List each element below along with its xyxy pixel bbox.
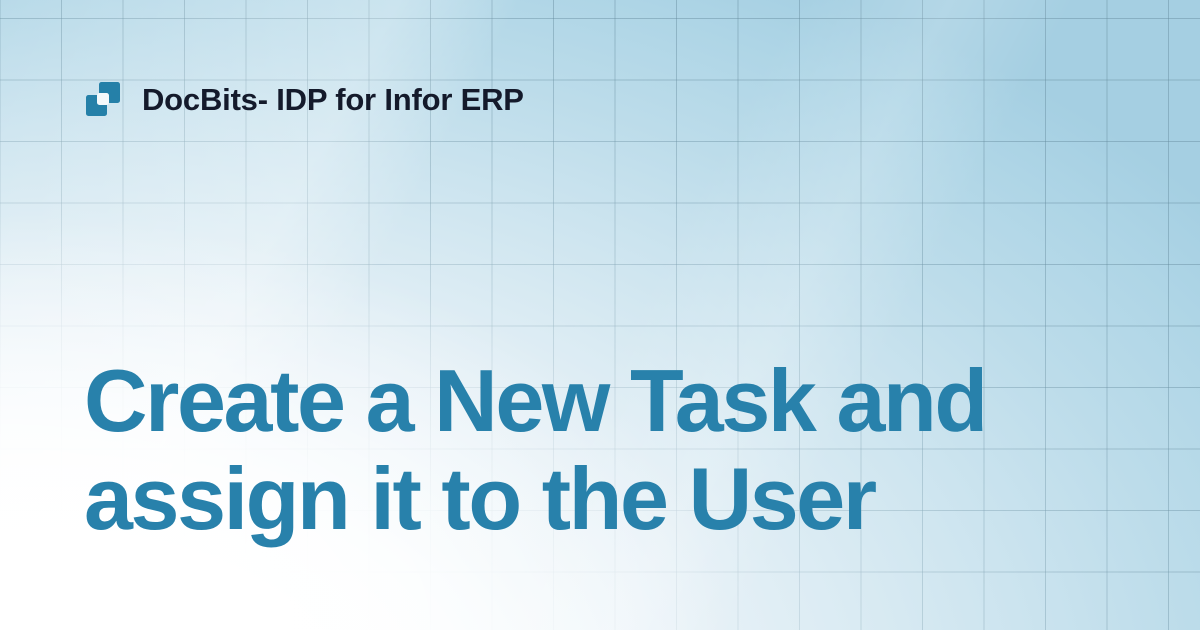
- brand-lockup: DocBits- IDP for Infor ERP: [86, 82, 524, 116]
- card-content: DocBits- IDP for Infor ERP Create a New …: [0, 0, 1200, 630]
- docbits-logo-icon: [86, 82, 120, 116]
- logo-center-notch: [97, 93, 109, 105]
- headline-line-1: Create a New Task and: [84, 352, 1144, 450]
- social-card: DocBits- IDP for Infor ERP Create a New …: [0, 0, 1200, 630]
- headline-line-2: assign it to the User: [84, 450, 1144, 548]
- page-title: Create a New Task and assign it to the U…: [84, 352, 1144, 548]
- brand-name-label: DocBits- IDP for Infor ERP: [142, 84, 524, 115]
